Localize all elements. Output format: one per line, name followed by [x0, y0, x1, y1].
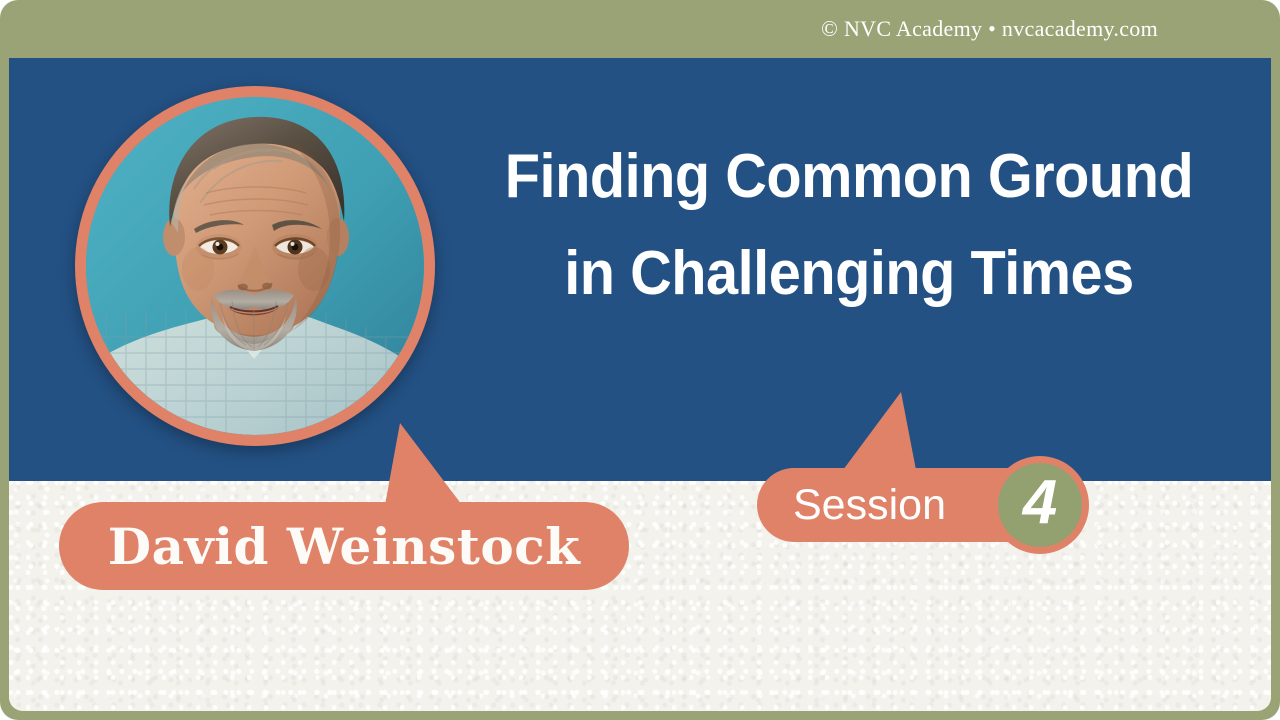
session-badge-group: Session 4: [757, 468, 1107, 602]
session-number-text: 4: [1023, 472, 1057, 534]
slide-title: Finding Common Ground in Challenging Tim…: [449, 128, 1249, 322]
copyright-text: © NVC Academy • nvcacademy.com: [821, 16, 1158, 42]
speaker-bubble-tail: [385, 423, 462, 505]
speaker-name-text: David Weinstock: [108, 517, 581, 576]
session-number-badge: 4: [991, 456, 1089, 554]
speaker-name-bubble: David Weinstock: [59, 502, 629, 590]
session-label-text: Session: [793, 481, 946, 530]
presentation-slide: © NVC Academy • nvcacademy.com: [0, 0, 1280, 720]
slide-content-frame: Finding Common Ground in Challenging Tim…: [9, 58, 1271, 711]
title-line-2: in Challenging Times: [477, 225, 1221, 322]
portrait-photo-graphic: [86, 97, 424, 435]
title-line-1: Finding Common Ground: [477, 128, 1221, 225]
session-bubble-tail: [843, 392, 916, 470]
session-number-circle: 4: [998, 463, 1082, 547]
speaker-portrait: [75, 86, 435, 446]
speaker-name-pill: David Weinstock: [59, 502, 629, 590]
copyright-band: © NVC Academy • nvcacademy.com: [0, 0, 1280, 58]
portrait-photo: [86, 97, 424, 435]
